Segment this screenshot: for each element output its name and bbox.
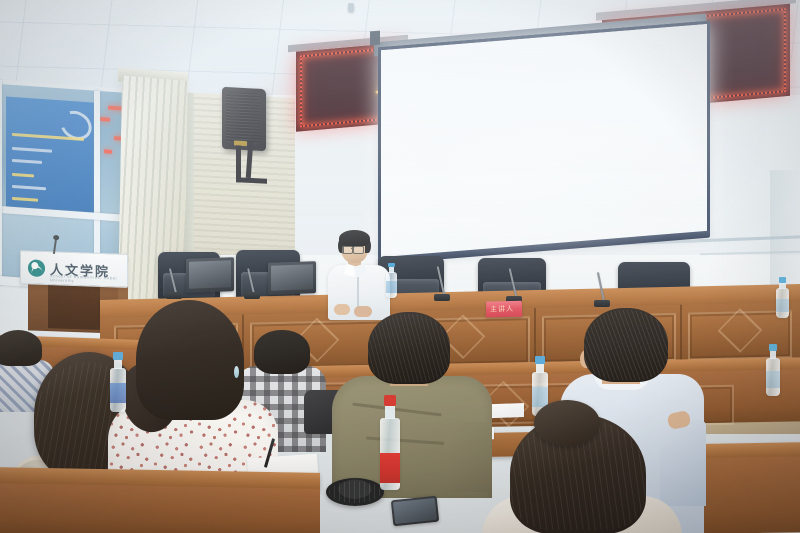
eyeglasses-right-lens-icon bbox=[353, 246, 364, 254]
earring bbox=[234, 366, 239, 378]
water-bottle bbox=[766, 358, 780, 396]
microphone-base bbox=[594, 300, 610, 307]
olive-man-hair-texture bbox=[368, 314, 450, 382]
presenter-hair bbox=[339, 230, 370, 247]
hat-texture bbox=[329, 481, 381, 503]
blue-shirt-man-hair-texture bbox=[584, 310, 668, 380]
smartphone-screen bbox=[393, 498, 437, 524]
audience-member-hair-bun bbox=[488, 400, 668, 533]
laptop bbox=[268, 261, 316, 295]
bucket-hat bbox=[326, 478, 384, 506]
window-frame-left bbox=[0, 80, 2, 285]
lectern-sign: 人文学院 School of Humanities, Hubei Univers… bbox=[20, 250, 128, 288]
water-bottle bbox=[386, 272, 397, 298]
ceiling-sensor-icon bbox=[348, 3, 354, 11]
microphone-base bbox=[434, 294, 450, 301]
projection-screen bbox=[378, 21, 710, 262]
eyeglasses-bridge-icon bbox=[351, 248, 354, 249]
water-bottle-red-cap bbox=[380, 418, 400, 490]
audience-member-olive-jacket bbox=[332, 312, 492, 497]
name-card-text: 主讲人 bbox=[490, 304, 514, 314]
projector-screen-housing-cap bbox=[370, 31, 380, 46]
water-bottle bbox=[110, 368, 126, 412]
microphone-base bbox=[166, 292, 182, 299]
university-crest-icon bbox=[28, 259, 45, 277]
presenter bbox=[328, 232, 390, 320]
lectern-recess bbox=[48, 284, 100, 330]
loudspeaker bbox=[222, 87, 266, 151]
reflected-presentation-slide bbox=[6, 96, 98, 218]
floral-woman-hair bbox=[136, 300, 244, 420]
smartphone bbox=[391, 496, 439, 527]
laptop bbox=[186, 257, 234, 293]
front-desk-front bbox=[0, 483, 320, 533]
lectern-sign-english: School of Humanities, Hubei University bbox=[50, 274, 127, 285]
microphone-base bbox=[244, 292, 260, 299]
water-bottle bbox=[776, 288, 789, 318]
loudspeaker-grille bbox=[226, 92, 260, 144]
olive-jacket-arm bbox=[444, 422, 492, 492]
hair-bun bbox=[534, 400, 600, 446]
lecture-hall-photo: 人 讲 座 片 bbox=[0, 0, 800, 533]
loudspeaker-bracket bbox=[236, 145, 267, 184]
